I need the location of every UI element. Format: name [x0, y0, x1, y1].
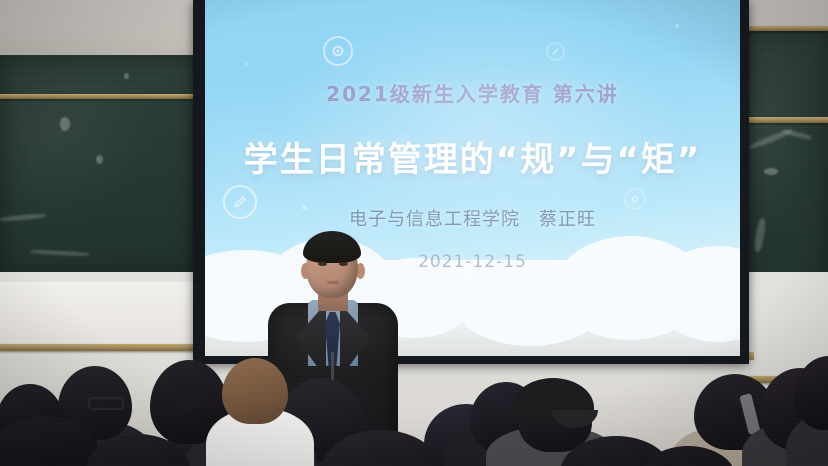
slide-author: 电子与信息工程学院 蔡正旺 [205, 205, 740, 231]
blackboard-left [0, 55, 200, 277]
slide-date: 2021-12-15 [205, 252, 740, 272]
chalk-streak [753, 218, 766, 253]
lower-wall-panel-left [0, 282, 196, 344]
audience-hair-bun [174, 386, 204, 412]
decor-dot [245, 62, 249, 66]
chalk-mark [96, 155, 103, 164]
decor-dot [675, 24, 679, 28]
chalk-streak [30, 249, 90, 256]
presenter-mouth [327, 281, 339, 284]
chalk-mark [124, 73, 129, 79]
slide-title: 学生日常管理的“规”与“矩” [205, 132, 740, 181]
chalk-streak [0, 213, 46, 222]
classroom-photo: 2021级新生入学教育 第六讲 学生日常管理的“规”与“矩” 电子与信息工程学院… [0, 0, 828, 466]
chalk-rail-right-middle [742, 117, 828, 123]
audience-head [222, 358, 288, 424]
circle-badge-icon [323, 36, 353, 66]
slide-subtitle: 2021级新生入学教育 第六讲 [205, 78, 740, 107]
blackboard-right [742, 28, 828, 311]
presenter-eye-left [318, 262, 327, 266]
chalk-rail-left-upper [0, 94, 196, 99]
audience-eyeglasses [88, 397, 124, 410]
chalk-mark [764, 168, 778, 175]
chalk-rail-right-top [742, 26, 828, 31]
presenter-eye-right [339, 262, 348, 266]
circle-faint-icon [546, 42, 565, 61]
wall-rail-left [0, 344, 200, 351]
chalk-mark [60, 117, 70, 131]
